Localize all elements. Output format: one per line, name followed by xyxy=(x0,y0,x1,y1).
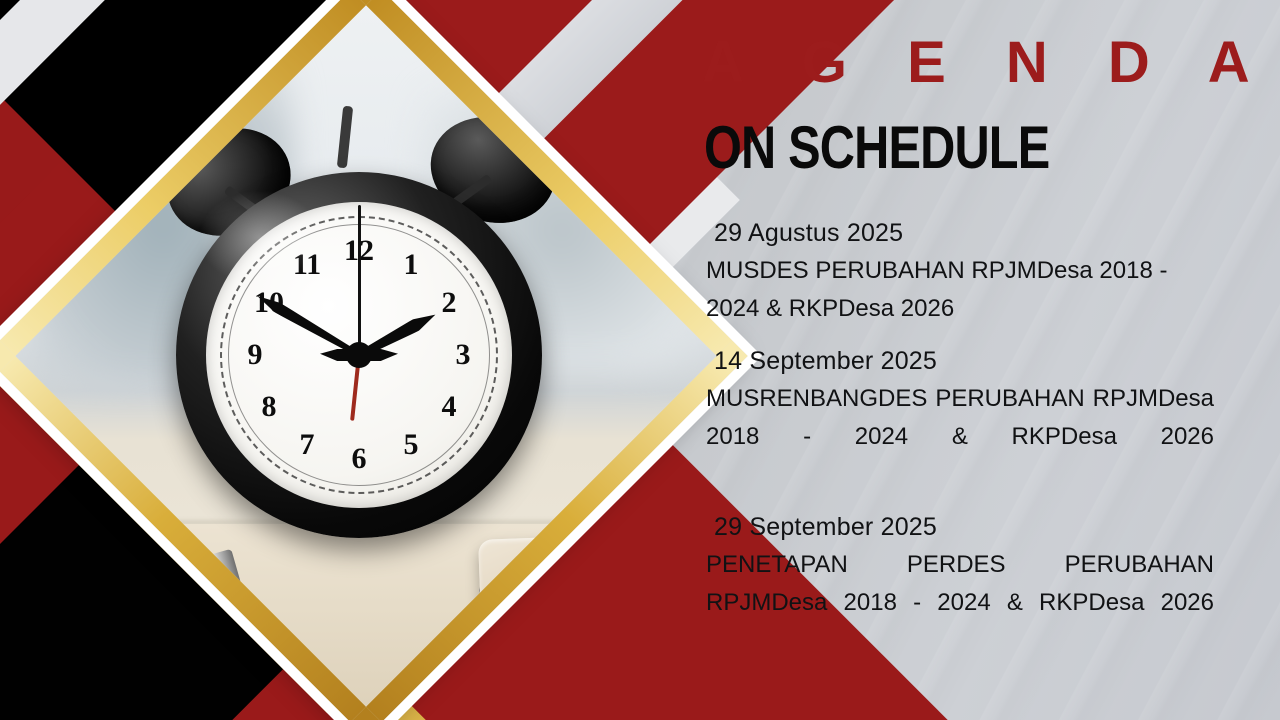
page-subtitle: ON SCHEDULE xyxy=(704,112,1049,185)
bell-hammer xyxy=(337,106,353,169)
page-title: A G E N D A xyxy=(702,32,1272,94)
agenda-item-description: MUSDES PERUBAHAN RPJMDesa 2018 - 2024 & … xyxy=(700,252,1228,328)
agenda-item-description: MUSRENBANGDES PERUBAHAN RPJMDesa 2018 - … xyxy=(700,380,1228,494)
agenda-item: 29 September 2025 PENETAPAN PERDES PERUB… xyxy=(700,508,1228,660)
clock-numeral-4: 4 xyxy=(431,392,467,422)
clock-numeral-1: 1 xyxy=(393,250,429,280)
clock-numeral-3: 3 xyxy=(445,340,481,370)
clock-second-hand xyxy=(358,205,361,355)
clock-face: 12 1 2 3 4 5 6 7 8 9 10 xyxy=(206,202,512,508)
clock-numeral-2: 2 xyxy=(431,288,467,318)
content-column: A G E N D A ON SCHEDULE 29 Agustus 2025 … xyxy=(692,0,1232,720)
clock-numeral-6: 6 xyxy=(341,444,377,474)
alarm-clock: 12 1 2 3 4 5 6 7 8 9 10 xyxy=(144,112,574,582)
clock-numeral-7: 7 xyxy=(289,430,325,460)
agenda-item-date: 29 Agustus 2025 xyxy=(700,214,1228,252)
clock-numeral-5: 5 xyxy=(393,430,429,460)
agenda-item-description: PENETAPAN PERDES PERUBAHAN RPJMDesa 2018… xyxy=(700,546,1228,660)
clock-center-hub xyxy=(346,342,372,368)
agenda-item-date: 14 September 2025 xyxy=(700,342,1228,380)
slide-canvas: 12 1 2 3 4 5 6 7 8 9 10 xyxy=(0,0,1280,720)
agenda-item: 14 September 2025 MUSRENBANGDES PERUBAHA… xyxy=(700,342,1228,494)
agenda-list: 29 Agustus 2025 MUSDES PERUBAHAN RPJMDes… xyxy=(700,214,1228,674)
agenda-item-date: 29 September 2025 xyxy=(700,508,1228,546)
agenda-item: 29 Agustus 2025 MUSDES PERUBAHAN RPJMDes… xyxy=(700,214,1228,328)
clock-numeral-11: 11 xyxy=(289,250,325,280)
clock-numeral-8: 8 xyxy=(251,392,287,422)
clock-numeral-9: 9 xyxy=(237,340,273,370)
clock-case: 12 1 2 3 4 5 6 7 8 9 10 xyxy=(176,172,542,538)
